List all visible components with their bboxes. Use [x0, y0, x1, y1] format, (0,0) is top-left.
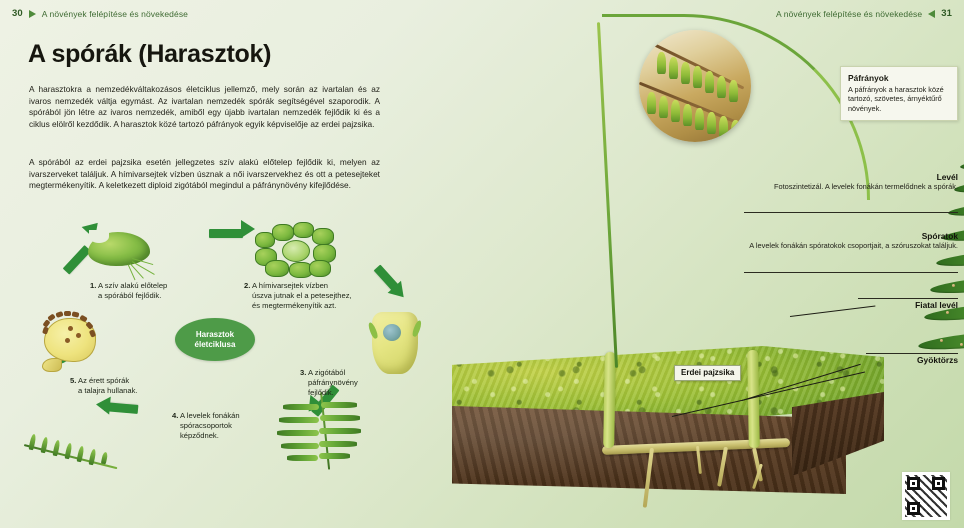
spore	[76, 333, 81, 338]
callout-pafranyok-title: Páfrányok	[848, 73, 950, 83]
label-erdei-pajzsika: Erdei pajzsika	[674, 365, 741, 381]
cycle-step-1-line2: a spórából fejlődik.	[90, 291, 220, 301]
label-gyoktorzs: Gyöktörzs	[748, 355, 958, 365]
cycle-step-1-caption: 1. A szív alakú előtelep a spórából fejl…	[90, 281, 220, 301]
illustration-prothallus	[88, 228, 166, 276]
cycle-step-2-number: 2.	[244, 281, 250, 290]
page-title: A spórák (Harasztok)	[28, 40, 271, 69]
cycle-step-4-number: 4.	[172, 411, 178, 420]
callout-pafranyok-text: A páfrányok a harasztok közé tartozó, sz…	[848, 85, 950, 113]
sporangium-stalk	[42, 358, 62, 372]
cycle-step-4-line1: A levelek fonákán	[180, 411, 240, 420]
frond-pinna	[319, 441, 357, 447]
frond-pinna	[101, 452, 108, 465]
archegonium-cell	[272, 224, 294, 241]
cycle-step-5-line1: Az érett spórák	[78, 376, 129, 385]
textbook-spread: 30 A növények felépítése és növekedése A…	[0, 0, 964, 528]
frond-pinna	[321, 402, 357, 408]
cycle-step-1-number: 1.	[90, 281, 96, 290]
page-number-left: 30	[12, 8, 23, 19]
label-sporatok: Spóratok A levelek fonákán spóratokok cs…	[748, 231, 958, 251]
frond-pinna	[287, 455, 318, 461]
cycle-arrow-2-line	[209, 229, 243, 238]
cycle-step-1-line1: A szív alakú előtelep	[98, 281, 167, 290]
qr-code-icon[interactable]	[902, 472, 950, 520]
sporangium-annulus-segment	[64, 311, 71, 316]
illustration-archegonium	[255, 222, 339, 278]
soil-block	[452, 346, 884, 494]
label-fiatal-level-rule	[858, 298, 958, 299]
cycle-step-3-line2: páfránynövény	[300, 378, 410, 388]
label-gyoktorzs-rule	[866, 353, 958, 354]
illustration-zygote	[372, 312, 418, 374]
label-sporatok-title: Spóratok	[748, 231, 958, 241]
frond-pinna	[281, 443, 319, 449]
frond-pinna	[319, 453, 350, 459]
illustration-frond-bottom-left	[20, 418, 130, 476]
running-head-left-text: A növények felépítése és növekedése	[42, 9, 188, 19]
sporangium-annulus-segment	[47, 313, 56, 321]
frond-pinna	[283, 404, 319, 410]
label-level-rule	[744, 212, 958, 213]
frond-pinna	[320, 415, 360, 421]
zygote-nucleus	[383, 324, 401, 341]
cycle-center-line2: életciklusa	[195, 340, 236, 350]
cycle-arrow-1-line	[63, 245, 91, 275]
body-paragraph-1: A harasztokra a nemzedékváltakozásos éle…	[29, 84, 380, 130]
archegonium-cell	[309, 260, 331, 277]
label-sporatok-rule	[744, 272, 958, 273]
archegonium-cell	[293, 222, 314, 238]
running-head-left: 30 A növények felépítése és növekedése	[12, 8, 188, 19]
cycle-step-3-caption: 3. A zigótából páfránynövény fejlődik.	[300, 368, 410, 398]
callout-pafranyok: Páfrányok A páfrányok a harasztok közé t…	[840, 66, 958, 121]
illustration-sporangium	[38, 312, 106, 372]
label-gyoktorzs-title: Gyöktörzs	[748, 355, 958, 365]
cycle-center-line1: Harasztok	[196, 330, 234, 340]
cycle-step-4-caption: 4. A levelek fonákán spóracsoportok képz…	[172, 411, 292, 441]
cycle-arrow-2-head	[241, 220, 255, 238]
cycle-center-label: Harasztok életciklusa	[175, 318, 255, 361]
label-level-text: Fotoszintetizál. A levelek fonákán terme…	[748, 182, 958, 192]
frond-pinna	[319, 428, 361, 434]
label-level: Levél Fotoszintetizál. A levelek fonákán…	[748, 172, 958, 192]
cycle-step-2-line2: úszva jutnak el a petesejthez,	[244, 291, 394, 301]
sporangium-annulus-segment	[55, 311, 63, 318]
triangle-right-icon	[29, 10, 36, 18]
cycle-arrow-5-head	[95, 395, 111, 414]
zygote-body	[372, 312, 418, 374]
archegonium-egg-cell	[282, 240, 310, 262]
cycle-step-5-caption: 5. Az érett spórák a talajra hullanak.	[70, 376, 200, 396]
cycle-step-4-line2: spóracsoportok	[172, 421, 292, 431]
triangle-left-icon	[928, 10, 935, 18]
archegonium-cell	[312, 228, 334, 245]
cycle-step-2-line1: A hímivarsejtek vízben	[252, 281, 328, 290]
archegonium-cell	[265, 260, 289, 277]
cycle-step-4-line3: képződnek.	[172, 431, 292, 441]
cycle-step-2-line3: és megtermékenyítik azt.	[244, 301, 394, 311]
cycle-step-5-number: 5.	[70, 376, 76, 385]
cycle-step-3-number: 3.	[300, 368, 306, 377]
label-sporatok-text: A levelek fonákán spóratokok csoportjait…	[748, 241, 958, 251]
spore	[68, 326, 73, 331]
spore	[65, 338, 70, 343]
sporangium-annulus-segment	[71, 311, 79, 318]
fern-closeup-photo-inset	[639, 30, 751, 142]
body-paragraph-2: A spórából az erdei pajzsika esetén jell…	[29, 157, 380, 192]
label-level-title: Levél	[748, 172, 958, 182]
cycle-step-3-line3: fejlődik.	[300, 388, 410, 398]
cycle-step-3-line1: A zigótából	[308, 368, 345, 377]
prothallus-notch	[89, 230, 109, 243]
cycle-step-5-line2: a talajra hullanak.	[70, 386, 200, 396]
cycle-step-2-caption: 2. A hímivarsejtek vízben úszva jutnak e…	[244, 281, 394, 311]
